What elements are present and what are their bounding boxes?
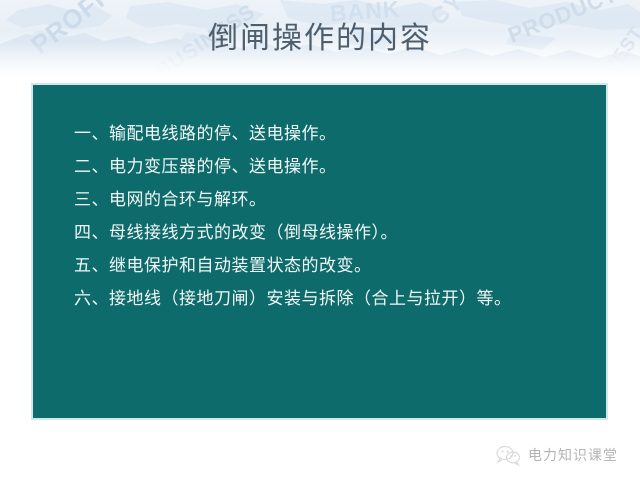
- list-item: 六、接地线（接地刀闸）安装与拆除（合上与拉开）等。: [74, 283, 592, 316]
- list-item: 五、继电保护和自动装置状态的改变。: [74, 250, 592, 283]
- wechat-logo-icon: [495, 444, 521, 466]
- list-item: 一、输配电线路的停、送电操作。: [74, 118, 592, 151]
- slide-root: PROFIT BUSINESS BANK CY PRODUCT VEST 倒闸操…: [0, 0, 640, 480]
- content-panel: 一、输配电线路的停、送电操作。 二、电力变压器的停、送电操作。 三、电网的合环与…: [31, 83, 608, 420]
- list-item: 二、电力变压器的停、送电操作。: [74, 151, 592, 184]
- page-title: 倒闸操作的内容: [0, 20, 640, 58]
- list-item: 四、母线接线方式的改变（倒母线操作）。: [74, 217, 592, 250]
- content-list: 一、输配电线路的停、送电操作。 二、电力变压器的停、送电操作。 三、电网的合环与…: [74, 118, 592, 316]
- list-item: 三、电网的合环与解环。: [74, 184, 592, 217]
- footer-brand-label: 电力知识课堂: [528, 445, 618, 465]
- footer-branding: 电力知识课堂: [495, 444, 618, 466]
